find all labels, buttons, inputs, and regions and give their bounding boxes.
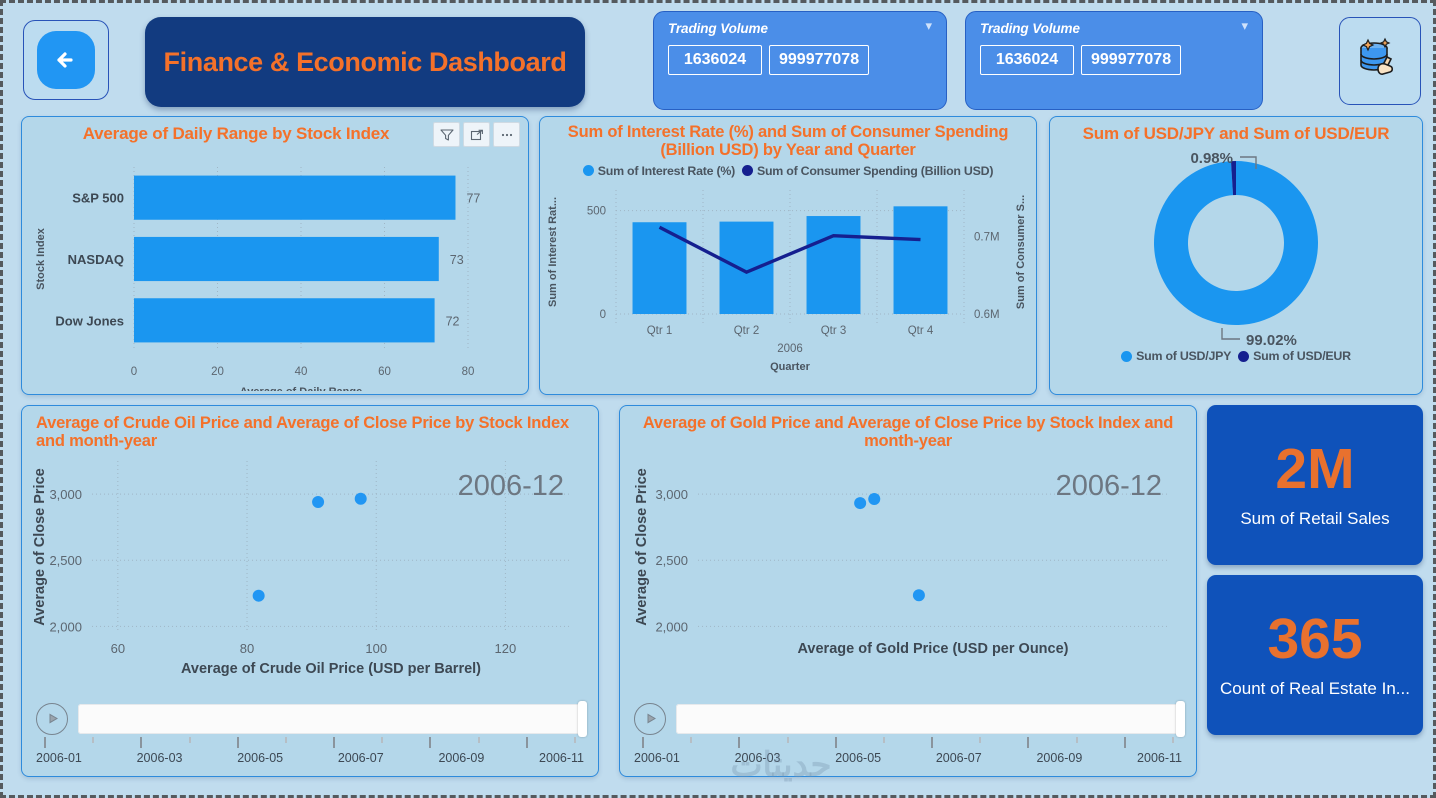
legend-swatch bbox=[583, 165, 594, 176]
chevron-down-icon[interactable]: ▾ bbox=[1241, 21, 1248, 31]
kpi-label: Sum of Retail Sales bbox=[1240, 509, 1389, 529]
combo-chart-plot[interactable]: 05000.6M0.7MQtr 1Qtr 2Qtr 3Qtr 42006Quar… bbox=[540, 178, 1036, 374]
svg-text:0: 0 bbox=[131, 366, 137, 378]
scatter-point[interactable] bbox=[355, 493, 367, 505]
donut-chart-plot[interactable]: 0.98%99.02% bbox=[1050, 143, 1422, 353]
legend-label: Sum of Consumer Spending (Billion USD) bbox=[757, 164, 993, 178]
play-axis-track[interactable] bbox=[78, 704, 584, 734]
svg-text:99.02%: 99.02% bbox=[1246, 332, 1297, 349]
visual-header-icons bbox=[433, 122, 520, 147]
svg-text:Qtr 1: Qtr 1 bbox=[647, 325, 673, 337]
legend-item-interest-rate[interactable]: Sum of Interest Rate (%) bbox=[583, 164, 735, 178]
scatter-point[interactable] bbox=[312, 496, 324, 508]
svg-text:40: 40 bbox=[295, 366, 308, 378]
bar[interactable] bbox=[894, 206, 948, 314]
slicer-min-input[interactable]: 1636024 bbox=[980, 45, 1074, 75]
slicer-max-input[interactable]: 999977078 bbox=[1081, 45, 1181, 75]
svg-text:60: 60 bbox=[111, 641, 125, 656]
kpi-value: 365 bbox=[1267, 611, 1362, 668]
scatter-point[interactable] bbox=[253, 590, 265, 602]
visual-title: Average of Crude Oil Price and Average o… bbox=[22, 406, 598, 451]
clear-filters-button[interactable] bbox=[1339, 17, 1421, 105]
legend-swatch bbox=[1121, 351, 1132, 362]
play-axis-tick-labels: 2006-01 2006-03 2006-05 2006-07 2006-09 … bbox=[22, 751, 598, 765]
play-axis-tick-label: 2006-05 bbox=[237, 751, 283, 765]
play-icon[interactable] bbox=[634, 703, 666, 735]
focus-mode-icon[interactable] bbox=[463, 122, 490, 147]
svg-text:Sum of Interest Rat...: Sum of Interest Rat... bbox=[547, 197, 559, 307]
play-axis-tick-label: 2006-11 bbox=[539, 751, 584, 765]
legend: Sum of Interest Rate (%) Sum of Consumer… bbox=[540, 164, 1036, 178]
legend-swatch bbox=[742, 165, 753, 176]
legend-label: Sum of USD/JPY bbox=[1136, 349, 1231, 363]
dashboard-title-banner: Finance & Economic Dashboard bbox=[145, 17, 585, 107]
legend-item-usd-jpy[interactable]: Sum of USD/JPY bbox=[1121, 349, 1231, 363]
scatter-point[interactable] bbox=[868, 493, 880, 505]
svg-text:2,500: 2,500 bbox=[49, 553, 82, 568]
play-axis-tick-label: 2006-03 bbox=[735, 751, 781, 765]
svg-text:80: 80 bbox=[462, 366, 475, 378]
play-axis-tick-label: 2006-05 bbox=[835, 751, 881, 765]
kpi-card-real-estate[interactable]: 365 Count of Real Estate In... bbox=[1207, 575, 1423, 735]
filter-icon[interactable] bbox=[433, 122, 460, 147]
visual-title: Sum of Interest Rate (%) and Sum of Cons… bbox=[540, 117, 1036, 160]
svg-text:500: 500 bbox=[587, 206, 606, 218]
svg-text:0.7M: 0.7M bbox=[974, 231, 1000, 243]
svg-text:Average of Close Price: Average of Close Price bbox=[634, 468, 650, 625]
play-axis-gold[interactable] bbox=[620, 703, 1196, 735]
database-clean-icon bbox=[1352, 31, 1408, 92]
play-axis-track[interactable] bbox=[676, 704, 1182, 734]
legend-item-usd-eur[interactable]: Sum of USD/EUR bbox=[1238, 349, 1351, 363]
svg-text:2,000: 2,000 bbox=[655, 619, 688, 634]
visual-daily-range-by-stock-index[interactable]: Average of Daily Range by Stock Index 02… bbox=[21, 116, 529, 395]
svg-text:2006-12: 2006-12 bbox=[1056, 470, 1162, 502]
chevron-down-icon[interactable]: ▾ bbox=[925, 21, 932, 31]
svg-text:80: 80 bbox=[240, 641, 254, 656]
arrow-left-icon bbox=[37, 31, 95, 89]
svg-text:73: 73 bbox=[450, 253, 464, 267]
svg-text:Average of Crude Oil Price (US: Average of Crude Oil Price (USD per Barr… bbox=[181, 661, 481, 677]
svg-text:Stock Index: Stock Index bbox=[35, 227, 47, 290]
slicer-label: Trading Volume bbox=[980, 21, 1080, 36]
bar[interactable] bbox=[134, 237, 439, 281]
kpi-card-retail-sales[interactable]: 2M Sum of Retail Sales bbox=[1207, 405, 1423, 565]
visual-title: Average of Gold Price and Average of Clo… bbox=[620, 406, 1196, 451]
svg-text:S&P 500: S&P 500 bbox=[72, 191, 124, 206]
svg-text:Sum of Consumer S...: Sum of Consumer S... bbox=[1015, 195, 1027, 309]
play-axis-tick-label: 2006-01 bbox=[634, 751, 680, 765]
slicer-max-input[interactable]: 999977078 bbox=[769, 45, 869, 75]
svg-text:3,000: 3,000 bbox=[655, 487, 688, 502]
bar[interactable] bbox=[134, 176, 455, 220]
kpi-label: Count of Real Estate In... bbox=[1220, 679, 1410, 699]
bar[interactable] bbox=[720, 222, 774, 314]
legend-label: Sum of Interest Rate (%) bbox=[598, 164, 735, 178]
more-options-icon[interactable] bbox=[493, 122, 520, 147]
visual-interest-rate-consumer-spending[interactable]: Sum of Interest Rate (%) and Sum of Cons… bbox=[539, 116, 1037, 395]
svg-text:60: 60 bbox=[378, 366, 391, 378]
svg-text:2006: 2006 bbox=[777, 343, 803, 355]
visual-crude-oil-vs-close-price[interactable]: Average of Crude Oil Price and Average o… bbox=[21, 405, 599, 777]
svg-text:72: 72 bbox=[446, 314, 460, 328]
play-axis-tick-label: 2006-01 bbox=[36, 751, 82, 765]
crude-scatter-plot[interactable]: 2,0002,5003,00060801001202006-12Average … bbox=[22, 451, 598, 703]
play-axis-thumb[interactable] bbox=[578, 701, 587, 737]
svg-text:2,500: 2,500 bbox=[655, 553, 688, 568]
slicer-trading-volume-2[interactable]: Trading Volume ▾ 1636024 999977078 bbox=[965, 11, 1263, 110]
play-icon[interactable] bbox=[36, 703, 68, 735]
play-axis-tick-label: 2006-07 bbox=[936, 751, 982, 765]
scatter-point[interactable] bbox=[854, 497, 866, 509]
svg-text:Qtr 2: Qtr 2 bbox=[734, 325, 760, 337]
svg-text:3,000: 3,000 bbox=[49, 487, 82, 502]
svg-text:2,000: 2,000 bbox=[49, 619, 82, 634]
svg-text:NASDAQ: NASDAQ bbox=[68, 252, 124, 267]
play-axis-tick-labels: 2006-01 2006-03 2006-05 2006-07 2006-09 … bbox=[620, 751, 1196, 765]
svg-text:0: 0 bbox=[600, 309, 606, 321]
svg-text:0.98%: 0.98% bbox=[1190, 150, 1233, 167]
legend-swatch bbox=[1238, 351, 1249, 362]
svg-text:120: 120 bbox=[495, 641, 517, 656]
visual-title: Sum of USD/JPY and Sum of USD/EUR bbox=[1050, 117, 1422, 143]
line-series[interactable] bbox=[660, 227, 921, 272]
svg-text:20: 20 bbox=[211, 366, 224, 378]
svg-text:Quarter: Quarter bbox=[770, 361, 810, 373]
scatter-point[interactable] bbox=[913, 589, 925, 601]
svg-text:77: 77 bbox=[466, 192, 480, 206]
slicer-label: Trading Volume bbox=[668, 21, 768, 36]
play-axis-tick-label: 2006-11 bbox=[1137, 751, 1182, 765]
report-canvas: Finance & Economic Dashboard Trading Vol… bbox=[0, 0, 1436, 798]
svg-text:Dow Jones: Dow Jones bbox=[55, 313, 124, 328]
play-axis-tick-label: 2006-09 bbox=[438, 751, 484, 765]
svg-text:Average of Daily Range: Average of Daily Range bbox=[240, 386, 362, 391]
svg-text:0.6M: 0.6M bbox=[974, 309, 1000, 321]
slicer-trading-volume-1[interactable]: Trading Volume ▾ 1636024 999977078 bbox=[653, 11, 947, 110]
visual-usd-jpy-usd-eur[interactable]: Sum of USD/JPY and Sum of USD/EUR 0.98%9… bbox=[1049, 116, 1423, 395]
play-axis-ticks bbox=[22, 737, 598, 748]
gold-scatter-plot[interactable]: 2,0002,5003,0002006-12Average of Gold Pr… bbox=[620, 451, 1196, 703]
play-axis-ticks bbox=[620, 737, 1196, 748]
visual-gold-vs-close-price[interactable]: Average of Gold Price and Average of Clo… bbox=[619, 405, 1197, 777]
legend-label: Sum of USD/EUR bbox=[1253, 349, 1351, 363]
page-title: Finance & Economic Dashboard bbox=[164, 47, 567, 78]
play-axis-tick-label: 2006-09 bbox=[1036, 751, 1082, 765]
svg-text:Average of Close Price: Average of Close Price bbox=[32, 468, 48, 625]
play-axis-tick-label: 2006-07 bbox=[338, 751, 384, 765]
play-axis-tick-label: 2006-03 bbox=[137, 751, 183, 765]
svg-text:100: 100 bbox=[365, 641, 387, 656]
bar-chart-plot[interactable]: 020406080S&P 50077NASDAQ73Dow Jones72Sto… bbox=[22, 143, 528, 391]
svg-text:Qtr 3: Qtr 3 bbox=[821, 325, 847, 337]
legend: Sum of USD/JPY Sum of USD/EUR bbox=[1050, 349, 1422, 363]
svg-text:Average of Gold Price (USD per: Average of Gold Price (USD per Ounce) bbox=[798, 641, 1069, 657]
bar[interactable] bbox=[807, 216, 861, 314]
bar[interactable] bbox=[134, 298, 435, 342]
svg-text:2006-12: 2006-12 bbox=[458, 470, 564, 502]
slicer-min-input[interactable]: 1636024 bbox=[668, 45, 762, 75]
legend-item-consumer-spending[interactable]: Sum of Consumer Spending (Billion USD) bbox=[742, 164, 993, 178]
play-axis-crude[interactable] bbox=[22, 703, 598, 735]
play-axis-thumb[interactable] bbox=[1176, 701, 1185, 737]
back-button[interactable] bbox=[23, 20, 109, 100]
kpi-value: 2M bbox=[1275, 441, 1354, 498]
svg-text:Qtr 4: Qtr 4 bbox=[908, 325, 934, 337]
